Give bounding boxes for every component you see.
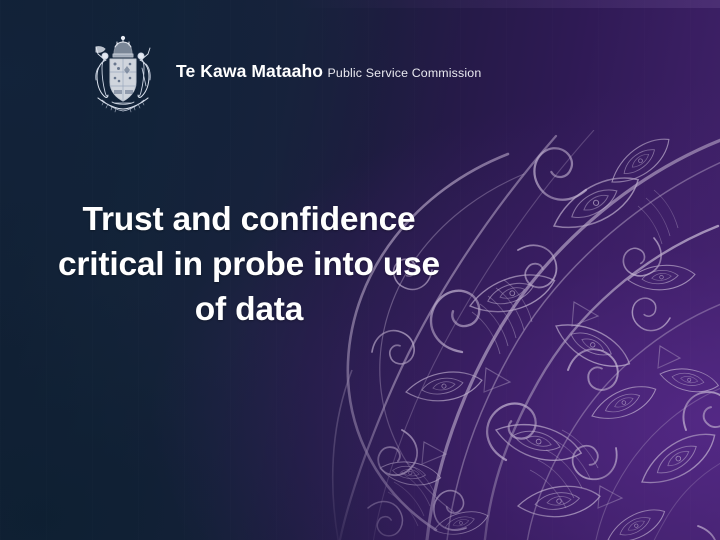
slide-headline: Trust and confidence critical in probe i… <box>18 198 480 333</box>
brand-logo-text: Te Kawa Mataaho Public Service Commissio… <box>176 61 481 88</box>
headline-line-1: Trust and confidence <box>18 198 480 243</box>
brand-logo-title: Te Kawa Mataaho <box>176 61 323 81</box>
kowhaiwhai-koru-pattern <box>256 130 720 540</box>
title-slide: Te Kawa Mataaho Public Service Commissio… <box>0 0 720 540</box>
headline-line-3: of data <box>18 288 480 333</box>
brand-logo-subtitle: Public Service Commission <box>328 66 482 80</box>
new-zealand-coat-of-arms-icon <box>84 34 162 114</box>
background-top-highlight <box>0 0 720 8</box>
headline-line-2: critical in probe into use <box>18 243 480 288</box>
brand-logo: Te Kawa Mataaho Public Service Commissio… <box>84 34 481 114</box>
